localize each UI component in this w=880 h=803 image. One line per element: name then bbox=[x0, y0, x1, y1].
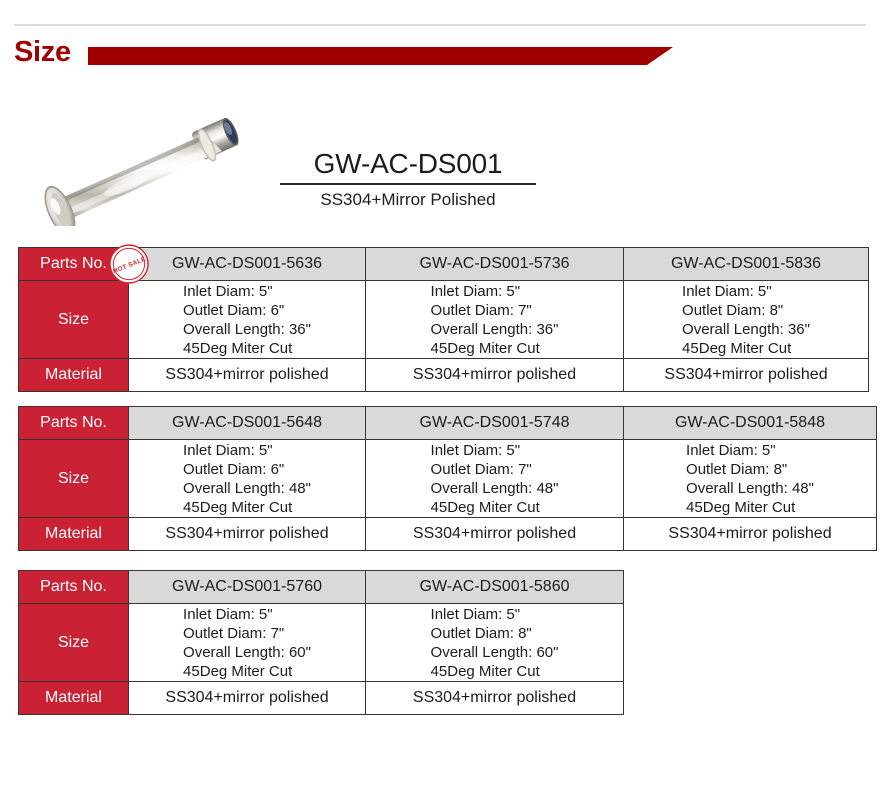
material-value: SS304+mirror polished bbox=[624, 359, 869, 392]
size-line: Overall Length: 36" bbox=[431, 321, 559, 338]
size-line: Overall Length: 36" bbox=[183, 321, 311, 338]
table-row-size: Size Inlet Diam: 5" Outlet Diam: 6" Over… bbox=[19, 281, 869, 359]
size-line: Outlet Diam: 6" bbox=[183, 302, 284, 319]
table-row-material: Material SS304+mirror polished SS304+mir… bbox=[19, 359, 869, 392]
size-line: Inlet Diam: 5" bbox=[682, 283, 772, 300]
size-line: 45Deg Miter Cut bbox=[431, 663, 540, 680]
material-value: SS304+mirror polished bbox=[129, 682, 366, 715]
parts-no-value: GW-AC-DS001-5748 bbox=[366, 407, 624, 440]
model-underline bbox=[280, 183, 536, 185]
row-label-material: Material bbox=[19, 682, 129, 715]
size-line: Inlet Diam: 5" bbox=[431, 283, 521, 300]
size-value: Inlet Diam: 5" Outlet Diam: 7" Overall L… bbox=[366, 281, 624, 359]
size-line: 45Deg Miter Cut bbox=[431, 340, 540, 357]
row-label-parts-no: Parts No. bbox=[19, 571, 129, 604]
size-line: Inlet Diam: 5" bbox=[686, 442, 776, 459]
size-value: Inlet Diam: 5" Outlet Diam: 7" Overall L… bbox=[366, 440, 624, 518]
table-row-material: Material SS304+mirror polished SS304+mir… bbox=[19, 518, 877, 551]
size-line: Inlet Diam: 5" bbox=[183, 283, 273, 300]
size-line: 45Deg Miter Cut bbox=[686, 499, 795, 516]
product-title-block: GW-AC-DS001 SS304+Mirror Polished bbox=[278, 148, 538, 211]
page-title: Size bbox=[14, 36, 71, 68]
row-label-size: Size bbox=[19, 281, 129, 359]
size-line: Inlet Diam: 5" bbox=[183, 442, 273, 459]
parts-no-value: GW-AC-DS001-5836 bbox=[624, 248, 869, 281]
size-line: 45Deg Miter Cut bbox=[183, 499, 292, 516]
size-line: Overall Length: 36" bbox=[682, 321, 810, 338]
parts-no-value: GW-AC-DS001-5636 bbox=[129, 248, 366, 281]
size-line: 45Deg Miter Cut bbox=[682, 340, 791, 357]
size-line: Overall Length: 48" bbox=[686, 480, 814, 497]
row-label-parts-no: Parts No. bbox=[19, 407, 129, 440]
size-line: Overall Length: 60" bbox=[183, 644, 311, 661]
size-line: 45Deg Miter Cut bbox=[431, 499, 540, 516]
material-value: SS304+mirror polished bbox=[129, 518, 366, 551]
size-line: Outlet Diam: 7" bbox=[183, 625, 284, 642]
product-summary: GW-AC-DS001 SS304+Mirror Polished bbox=[0, 104, 880, 234]
material-value: SS304+mirror polished bbox=[366, 518, 624, 551]
parts-no-value: GW-AC-DS001-5648 bbox=[129, 407, 366, 440]
size-line: Outlet Diam: 8" bbox=[682, 302, 783, 319]
size-line: Overall Length: 48" bbox=[183, 480, 311, 497]
material-value: SS304+mirror polished bbox=[624, 518, 877, 551]
size-line: Outlet Diam: 8" bbox=[431, 625, 532, 642]
parts-no-value: GW-AC-DS001-5860 bbox=[366, 571, 624, 604]
size-value: Inlet Diam: 5" Outlet Diam: 8" Overall L… bbox=[624, 440, 877, 518]
title-accent-bar bbox=[88, 47, 673, 65]
parts-no-value: GW-AC-DS001-5848 bbox=[624, 407, 877, 440]
size-line: Outlet Diam: 8" bbox=[686, 461, 787, 478]
size-value: Inlet Diam: 5" Outlet Diam: 6" Overall L… bbox=[129, 281, 366, 359]
size-line: Inlet Diam: 5" bbox=[183, 606, 273, 623]
size-value: Inlet Diam: 5" Outlet Diam: 8" Overall L… bbox=[624, 281, 869, 359]
size-line: Outlet Diam: 6" bbox=[183, 461, 284, 478]
material-value: SS304+mirror polished bbox=[366, 359, 624, 392]
row-label-material: Material bbox=[19, 518, 129, 551]
model-number: GW-AC-DS001 bbox=[278, 148, 538, 180]
size-line: Outlet Diam: 7" bbox=[431, 302, 532, 319]
table-row-parts-no: Parts No. GW-AC-DS001-5760 GW-AC-DS001-5… bbox=[19, 571, 624, 604]
size-line: Inlet Diam: 5" bbox=[431, 442, 521, 459]
parts-no-value: GW-AC-DS001-5760 bbox=[129, 571, 366, 604]
size-line: Outlet Diam: 7" bbox=[431, 461, 532, 478]
top-divider bbox=[14, 24, 866, 26]
spec-table-group-2: Parts No. GW-AC-DS001-5648 GW-AC-DS001-5… bbox=[18, 406, 877, 551]
size-value: Inlet Diam: 5" Outlet Diam: 7" Overall L… bbox=[129, 604, 366, 682]
table-row-size: Size Inlet Diam: 5" Outlet Diam: 7" Over… bbox=[19, 604, 624, 682]
product-photo bbox=[24, 106, 270, 226]
material-value: SS304+mirror polished bbox=[129, 359, 366, 392]
size-line: Overall Length: 60" bbox=[431, 644, 559, 661]
size-line: Inlet Diam: 5" bbox=[431, 606, 521, 623]
table-row-size: Size Inlet Diam: 5" Outlet Diam: 6" Over… bbox=[19, 440, 877, 518]
spec-table-group-3: Parts No. GW-AC-DS001-5760 GW-AC-DS001-5… bbox=[18, 570, 624, 715]
hot-sale-badge[interactable]: HOT SALE bbox=[109, 244, 149, 284]
size-line: Overall Length: 48" bbox=[431, 480, 559, 497]
row-label-size: Size bbox=[19, 604, 129, 682]
parts-no-value: GW-AC-DS001-5736 bbox=[366, 248, 624, 281]
row-label-size: Size bbox=[19, 440, 129, 518]
row-label-material: Material bbox=[19, 359, 129, 392]
size-value: Inlet Diam: 5" Outlet Diam: 8" Overall L… bbox=[366, 604, 624, 682]
material-value: SS304+mirror polished bbox=[366, 682, 624, 715]
model-material-caption: SS304+Mirror Polished bbox=[278, 189, 538, 211]
section-header: Size bbox=[0, 36, 880, 76]
table-row-parts-no: Parts No. GW-AC-DS001-5648 GW-AC-DS001-5… bbox=[19, 407, 877, 440]
size-line: 45Deg Miter Cut bbox=[183, 340, 292, 357]
table-row-material: Material SS304+mirror polished SS304+mir… bbox=[19, 682, 624, 715]
size-line: 45Deg Miter Cut bbox=[183, 663, 292, 680]
size-value: Inlet Diam: 5" Outlet Diam: 6" Overall L… bbox=[129, 440, 366, 518]
